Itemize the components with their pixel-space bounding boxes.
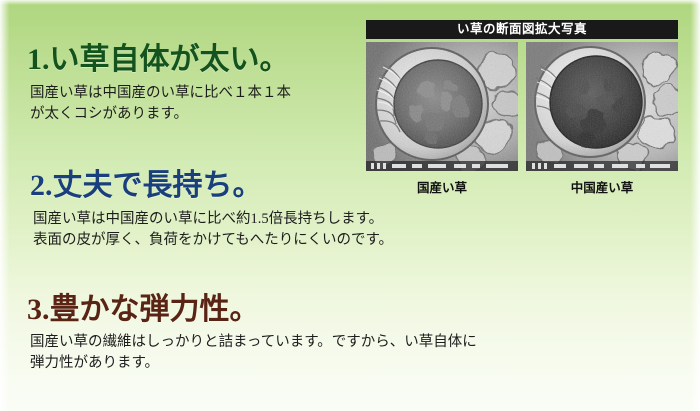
photo-caption-domestic: 国産い草: [366, 171, 518, 196]
photo-panel-header: い草の断面図拡大写真: [366, 20, 678, 39]
feature-2-heading: 2.丈夫で長持ち。: [0, 170, 370, 202]
feature-3-body: 国産い草の繊維はしっかりと詰まっています。ですから、い草自体に 弾力性があります…: [0, 326, 500, 374]
cross-section-micrograph-domestic-icon: [366, 42, 518, 171]
micrograph-chinese-frame: [526, 42, 678, 171]
photo-cell-chinese: 中国産い草: [526, 42, 678, 196]
top-edge-highlight: [0, 0, 700, 5]
feature-2-body: 国産い草は中国産のい草に比べ約1.5倍長持ちします。 表面の皮が厚く、負荷をかけ…: [0, 202, 503, 251]
feature-1-body: 国産い草は中国産のい草に比べ１本１本 が太くコシがあります。: [0, 76, 370, 125]
feature-3-heading: 3.豊かな弾力性。: [0, 294, 370, 326]
feature-section-2: 2.丈夫で長持ち。 国産い草は中国産のい草に比べ約1.5倍長持ちします。 表面の…: [0, 170, 370, 251]
feature-1-heading: 1.い草自体が太い。: [0, 44, 370, 76]
right-edge-highlight: [691, 0, 700, 411]
photo-panel: い草の断面図拡大写真: [366, 20, 678, 196]
feature-section-1: 1.い草自体が太い。 国産い草は中国産のい草に比べ１本１本 が太くコシがあります…: [0, 44, 370, 125]
cross-section-micrograph-chinese-icon: [526, 42, 678, 171]
feature-section-3: 3.豊かな弾力性。 国産い草の繊維はしっかりと詰まっています。ですから、い草自体…: [0, 294, 370, 374]
photo-row: 国産い草: [366, 42, 678, 196]
micrograph-domestic-frame: [366, 42, 518, 171]
promo-poster: 1.い草自体が太い。 国産い草は中国産のい草に比べ１本１本 が太くコシがあります…: [0, 0, 700, 411]
photo-cell-domestic: 国産い草: [366, 42, 518, 196]
photo-caption-chinese: 中国産い草: [526, 171, 678, 196]
